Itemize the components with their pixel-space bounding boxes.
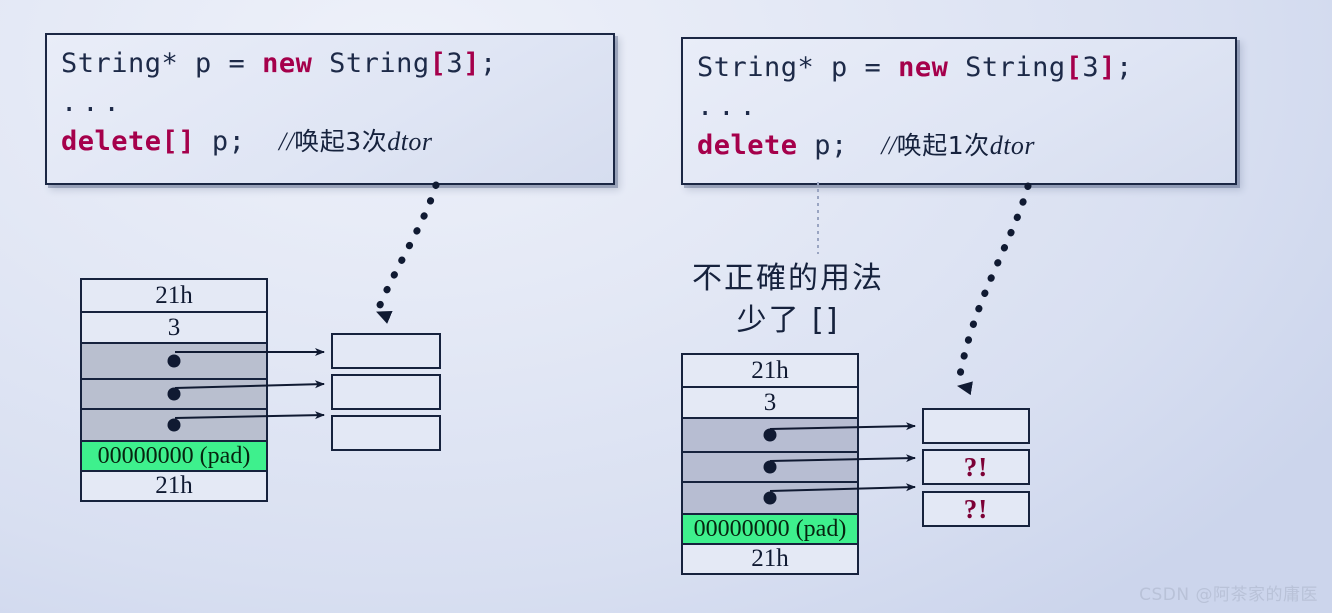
target-cell-left-3 — [331, 415, 441, 451]
memory-left-row-2: 3 — [82, 313, 266, 344]
memory-right-row-1-label: 21h — [751, 357, 789, 385]
memory-right-row-7-label: 21h — [751, 545, 789, 573]
memory-right-row-1: 21h — [683, 355, 857, 388]
memory-right-row-5 — [683, 483, 857, 515]
memory-right-pointer-dot-3 — [764, 492, 777, 505]
code-right-line-2-ellipsis: ... — [697, 89, 1221, 125]
code-right-l1-keyword-new: new — [898, 52, 948, 83]
memory-right-row-2-label: 3 — [764, 389, 777, 417]
code-left-l1-mid: String — [312, 48, 429, 79]
code-right-l3-comment-dtor: dtor — [990, 131, 1035, 160]
memory-left-row-1: 21h — [82, 280, 266, 313]
code-left-l3-comment-cjk: 唤起3次 — [294, 127, 387, 156]
watermark-csdn: CSDN @阿茶家的庸医 — [1139, 580, 1318, 605]
target-cell-right-3-label: ?! — [964, 494, 989, 525]
code-right-l3-comment-slashes: // — [881, 131, 896, 160]
target-cell-right-3: ?! — [922, 491, 1030, 527]
annotation-line-1: 不正確的用法 — [668, 258, 908, 300]
code-right-l3-comment-cjk: 唤起1次 — [897, 131, 990, 160]
code-right-l3-mid: p; — [798, 130, 882, 161]
code-right-line-3: delete p; //唤起1次dtor — [697, 125, 1221, 167]
code-left-line-3: delete[] p; //唤起3次dtor — [61, 121, 599, 163]
code-right-l1-bracket-open: [ — [1066, 52, 1083, 83]
code-left-l1-bracket-close: ] — [463, 48, 480, 79]
code-left-l3-comment-dtor: dtor — [387, 127, 432, 156]
slide-canvas: String* p = new String[3]; ... delete[] … — [0, 0, 1332, 613]
code-right-l1-mid: String — [948, 52, 1065, 83]
memory-left-row-1-label: 21h — [155, 282, 193, 310]
target-cell-right-2-label: ?! — [964, 452, 989, 483]
code-box-correct: String* p = new String[3]; ... delete[] … — [45, 33, 615, 185]
memory-left-pointer-dot-3 — [168, 419, 181, 432]
code-left-l1-pre: String* p = — [61, 48, 262, 79]
target-cell-left-1 — [331, 333, 441, 369]
target-cell-right-1 — [922, 408, 1030, 444]
code-left-l1-keyword-new: new — [262, 48, 312, 79]
code-left-l3-brackets: [] — [162, 126, 196, 157]
target-cell-right-2: ?! — [922, 449, 1030, 485]
memory-right-pointer-dot-1 — [764, 429, 777, 442]
code-left-l1-semicolon: ; — [480, 48, 497, 79]
code-left-l3-keyword-delete: delete — [61, 126, 162, 157]
code-right-line-1: String* p = new String[3]; — [697, 47, 1221, 89]
memory-right-row-6: 00000000 (pad) — [683, 515, 857, 545]
memory-left-row-3 — [82, 344, 266, 380]
code-right-l1-array-size: 3 — [1082, 52, 1099, 83]
code-left-line-1: String* p = new String[3]; — [61, 43, 599, 85]
memory-block-left: 21h300000000 (pad)21h — [80, 278, 268, 502]
annotation-incorrect-usage: 不正確的用法 少了 [] — [668, 258, 908, 342]
code-left-l1-bracket-open: [ — [430, 48, 447, 79]
memory-left-pointer-dot-1 — [168, 355, 181, 368]
code-left-line-2-ellipsis: ... — [61, 85, 599, 121]
memory-left-row-4 — [82, 380, 266, 410]
memory-right-row-3 — [683, 419, 857, 453]
memory-right-pointer-dot-2 — [764, 461, 777, 474]
memory-right-row-2: 3 — [683, 388, 857, 419]
memory-left-row-2-label: 3 — [168, 314, 181, 342]
code-right-l1-bracket-close: ] — [1099, 52, 1116, 83]
code-left-l1-array-size: 3 — [446, 48, 463, 79]
memory-left-row-6-label: 00000000 (pad) — [98, 443, 251, 470]
memory-right-row-4 — [683, 453, 857, 483]
memory-left-row-6: 00000000 (pad) — [82, 442, 266, 472]
code-right-l1-semicolon: ; — [1116, 52, 1133, 83]
target-cell-left-2 — [331, 374, 441, 410]
memory-left-row-7: 21h — [82, 472, 266, 500]
code-left-l3-comment-slashes: // — [279, 127, 294, 156]
memory-right-row-6-label: 00000000 (pad) — [694, 516, 847, 543]
code-box-incorrect: String* p = new String[3]; ... delete p;… — [681, 37, 1237, 185]
memory-left-row-7-label: 21h — [155, 472, 193, 500]
code-right-l1-pre: String* p = — [697, 52, 898, 83]
memory-left-pointer-dot-2 — [168, 388, 181, 401]
dotted-pointer-left — [377, 185, 436, 312]
memory-right-row-7: 21h — [683, 545, 857, 573]
code-left-l3-mid: p; — [195, 126, 279, 157]
memory-block-right: 21h300000000 (pad)21h — [681, 353, 859, 575]
annotation-line-2: 少了 [] — [668, 300, 908, 342]
dotted-pointer-right — [958, 186, 1028, 386]
code-right-l3-keyword-delete: delete — [697, 130, 798, 161]
memory-left-row-5 — [82, 410, 266, 442]
